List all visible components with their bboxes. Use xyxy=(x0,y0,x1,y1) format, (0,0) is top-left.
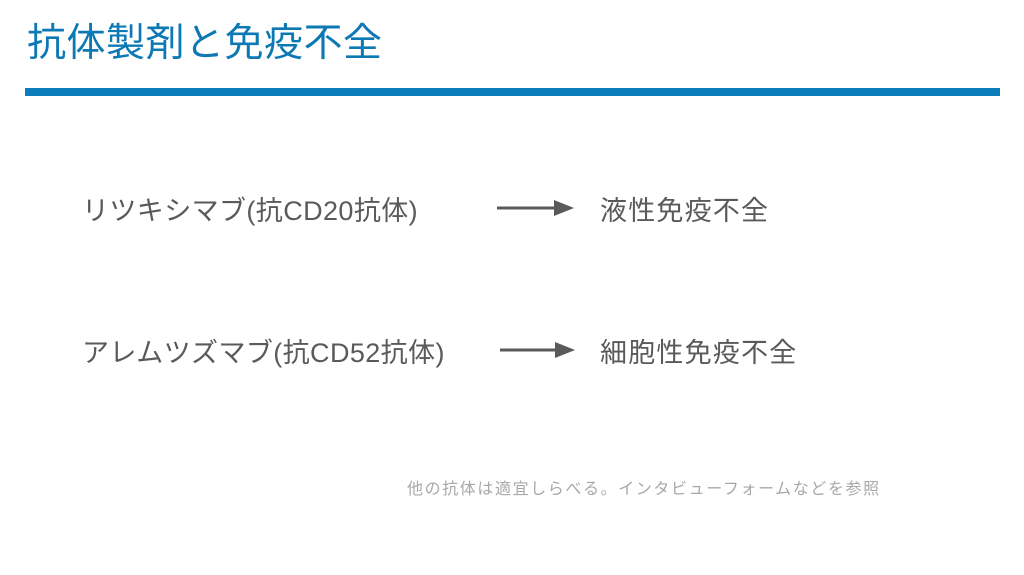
flow-target-label: 液性免疫不全 xyxy=(600,189,769,228)
page-title: 抗体製剤と免疫不全 xyxy=(27,22,383,67)
flow-target-label: 細胞性免疫不全 xyxy=(600,331,797,370)
slide: 抗体製剤と免疫不全 リツキシマブ(抗CD20抗体) 液性免疫不全 アレムツズマブ… xyxy=(0,0,1024,575)
flow-source-label: アレムツズマブ(抗CD52抗体) xyxy=(82,331,445,370)
flow-row: リツキシマブ(抗CD20抗体) 液性免疫不全 xyxy=(0,184,1024,232)
title-divider xyxy=(25,88,1000,96)
right-arrow-icon xyxy=(499,337,577,363)
flow-row: アレムツズマブ(抗CD52抗体) 細胞性免疫不全 xyxy=(0,326,1024,374)
footnote-text: 他の抗体は適宜しらべる。インタビューフォームなどを参照 xyxy=(407,475,881,499)
right-arrow-icon xyxy=(496,195,576,221)
flow-source-label: リツキシマブ(抗CD20抗体) xyxy=(82,189,418,228)
